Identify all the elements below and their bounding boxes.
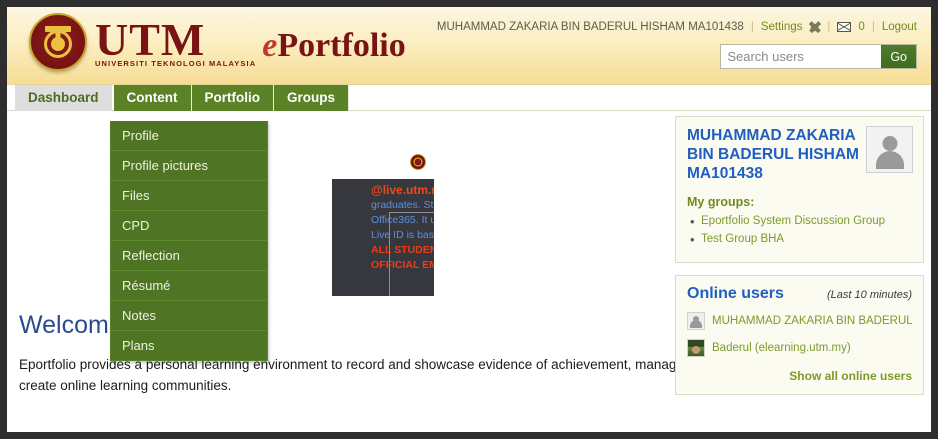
search-go-button[interactable]: Go xyxy=(881,45,916,68)
online-user-label: Baderul (elearning.utm.my) xyxy=(712,342,851,354)
user-avatar-icon xyxy=(687,312,705,330)
banner-text-box: @live.utm.m graduates. Stud Office365. I… xyxy=(332,179,434,296)
product-portfolio-label: Portfolio xyxy=(277,27,405,64)
utm-seal-icon xyxy=(29,13,87,71)
my-groups-list: Eportfolio System Discussion Group Test … xyxy=(687,215,912,245)
menu-item-plans[interactable]: Plans xyxy=(111,331,267,360)
banner-line-5: ALL STUDENTS xyxy=(371,243,434,258)
online-users-title: Online users xyxy=(687,285,784,303)
separator: | xyxy=(827,21,830,33)
banner-line-4: Live ID is based xyxy=(371,228,434,243)
online-user-label: MUHAMMAD ZAKARIA BIN BADERUL HISHA xyxy=(712,315,912,327)
mail-count[interactable]: 0 xyxy=(858,21,864,33)
logout-link[interactable]: Logout xyxy=(882,21,917,33)
online-user-row[interactable]: MUHAMMAD ZAKARIA BIN BADERUL HISHA xyxy=(687,312,912,330)
separator: | xyxy=(872,21,875,33)
tab-dashboard[interactable]: Dashboard xyxy=(15,85,112,111)
menu-item-reflection[interactable]: Reflection xyxy=(111,241,267,271)
menu-item-files[interactable]: Files xyxy=(111,181,267,211)
right-sidebar: MUHAMMAD ZAKARIA BIN BADERUL HISHAM MA10… xyxy=(675,116,924,407)
brand-wordmark: UTM UNIVERSITI TEKNOLOGI MALAYSIA xyxy=(95,17,256,68)
user-profile-panel: MUHAMMAD ZAKARIA BIN BADERUL HISHAM MA10… xyxy=(675,116,924,263)
main-navigation: Dashboard Content Portfolio Groups xyxy=(7,85,931,111)
header-username: MUHAMMAD ZAKARIA BIN BADERUL HISHAM MA10… xyxy=(437,21,744,33)
settings-link[interactable]: Settings xyxy=(761,21,803,33)
tab-content[interactable]: Content xyxy=(114,85,192,111)
gear-icon[interactable] xyxy=(809,22,820,33)
brand-word: UTM xyxy=(95,17,256,63)
brand-subtitle: UNIVERSITI TEKNOLOGI MALAYSIA xyxy=(95,60,256,68)
banner-line-2: graduates. Stud xyxy=(371,198,434,213)
tab-groups[interactable]: Groups xyxy=(274,85,349,111)
banner-line-1: @live.utm.m xyxy=(371,183,434,198)
banner-line-6: OFFICIAL EMAIL xyxy=(371,258,434,273)
announcement-banner-image: @live.utm.m graduates. Stud Office365. I… xyxy=(332,146,434,296)
my-groups-heading: My groups: xyxy=(687,195,912,209)
tab-portfolio[interactable]: Portfolio xyxy=(192,85,275,111)
online-user-row[interactable]: Baderul (elearning.utm.my) xyxy=(687,339,912,357)
mail-icon[interactable] xyxy=(837,22,851,32)
online-users-header: Online users (Last 10 minutes) xyxy=(687,285,912,303)
user-avatar-icon xyxy=(687,339,705,357)
search-input[interactable] xyxy=(721,45,881,68)
product-e-letter: e xyxy=(262,27,277,64)
menu-item-notes[interactable]: Notes xyxy=(111,301,267,331)
online-users-subtitle: (Last 10 minutes) xyxy=(827,289,912,301)
banner-line-3: Office365. It us xyxy=(371,213,434,228)
group-link-test-group-bha[interactable]: Test Group BHA xyxy=(687,233,912,245)
menu-item-cpd[interactable]: CPD xyxy=(111,211,267,241)
brand-logo-area[interactable]: UTM UNIVERSITI TEKNOLOGI MALAYSIA ePortf… xyxy=(29,13,406,71)
product-name: ePortfolio xyxy=(262,27,406,65)
content-dropdown-menu[interactable]: Profile Profile pictures Files CPD Refle… xyxy=(110,121,268,361)
user-search-form[interactable]: Go xyxy=(720,44,917,69)
avatar[interactable] xyxy=(866,126,913,173)
online-users-panel: Online users (Last 10 minutes) MUHAMMAD … xyxy=(675,275,924,395)
banner-utm-logo-icon xyxy=(410,154,426,170)
sidebar-user-name: MUHAMMAD ZAKARIA BIN BADERUL HISHAM MA10… xyxy=(687,126,862,183)
separator: | xyxy=(751,21,754,33)
menu-item-profile-pictures[interactable]: Profile pictures xyxy=(111,151,267,181)
header-links: MUHAMMAD ZAKARIA BIN BADERUL HISHAM MA10… xyxy=(437,21,917,33)
group-link-eportfolio-discussion[interactable]: Eportfolio System Discussion Group xyxy=(687,215,912,227)
menu-item-profile[interactable]: Profile xyxy=(111,121,267,151)
page-frame: UTM UNIVERSITI TEKNOLOGI MALAYSIA ePortf… xyxy=(0,0,938,439)
show-all-online-users-link[interactable]: Show all online users xyxy=(687,369,912,383)
site-header: UTM UNIVERSITI TEKNOLOGI MALAYSIA ePortf… xyxy=(7,7,931,85)
menu-item-resume[interactable]: Résumé xyxy=(111,271,267,301)
